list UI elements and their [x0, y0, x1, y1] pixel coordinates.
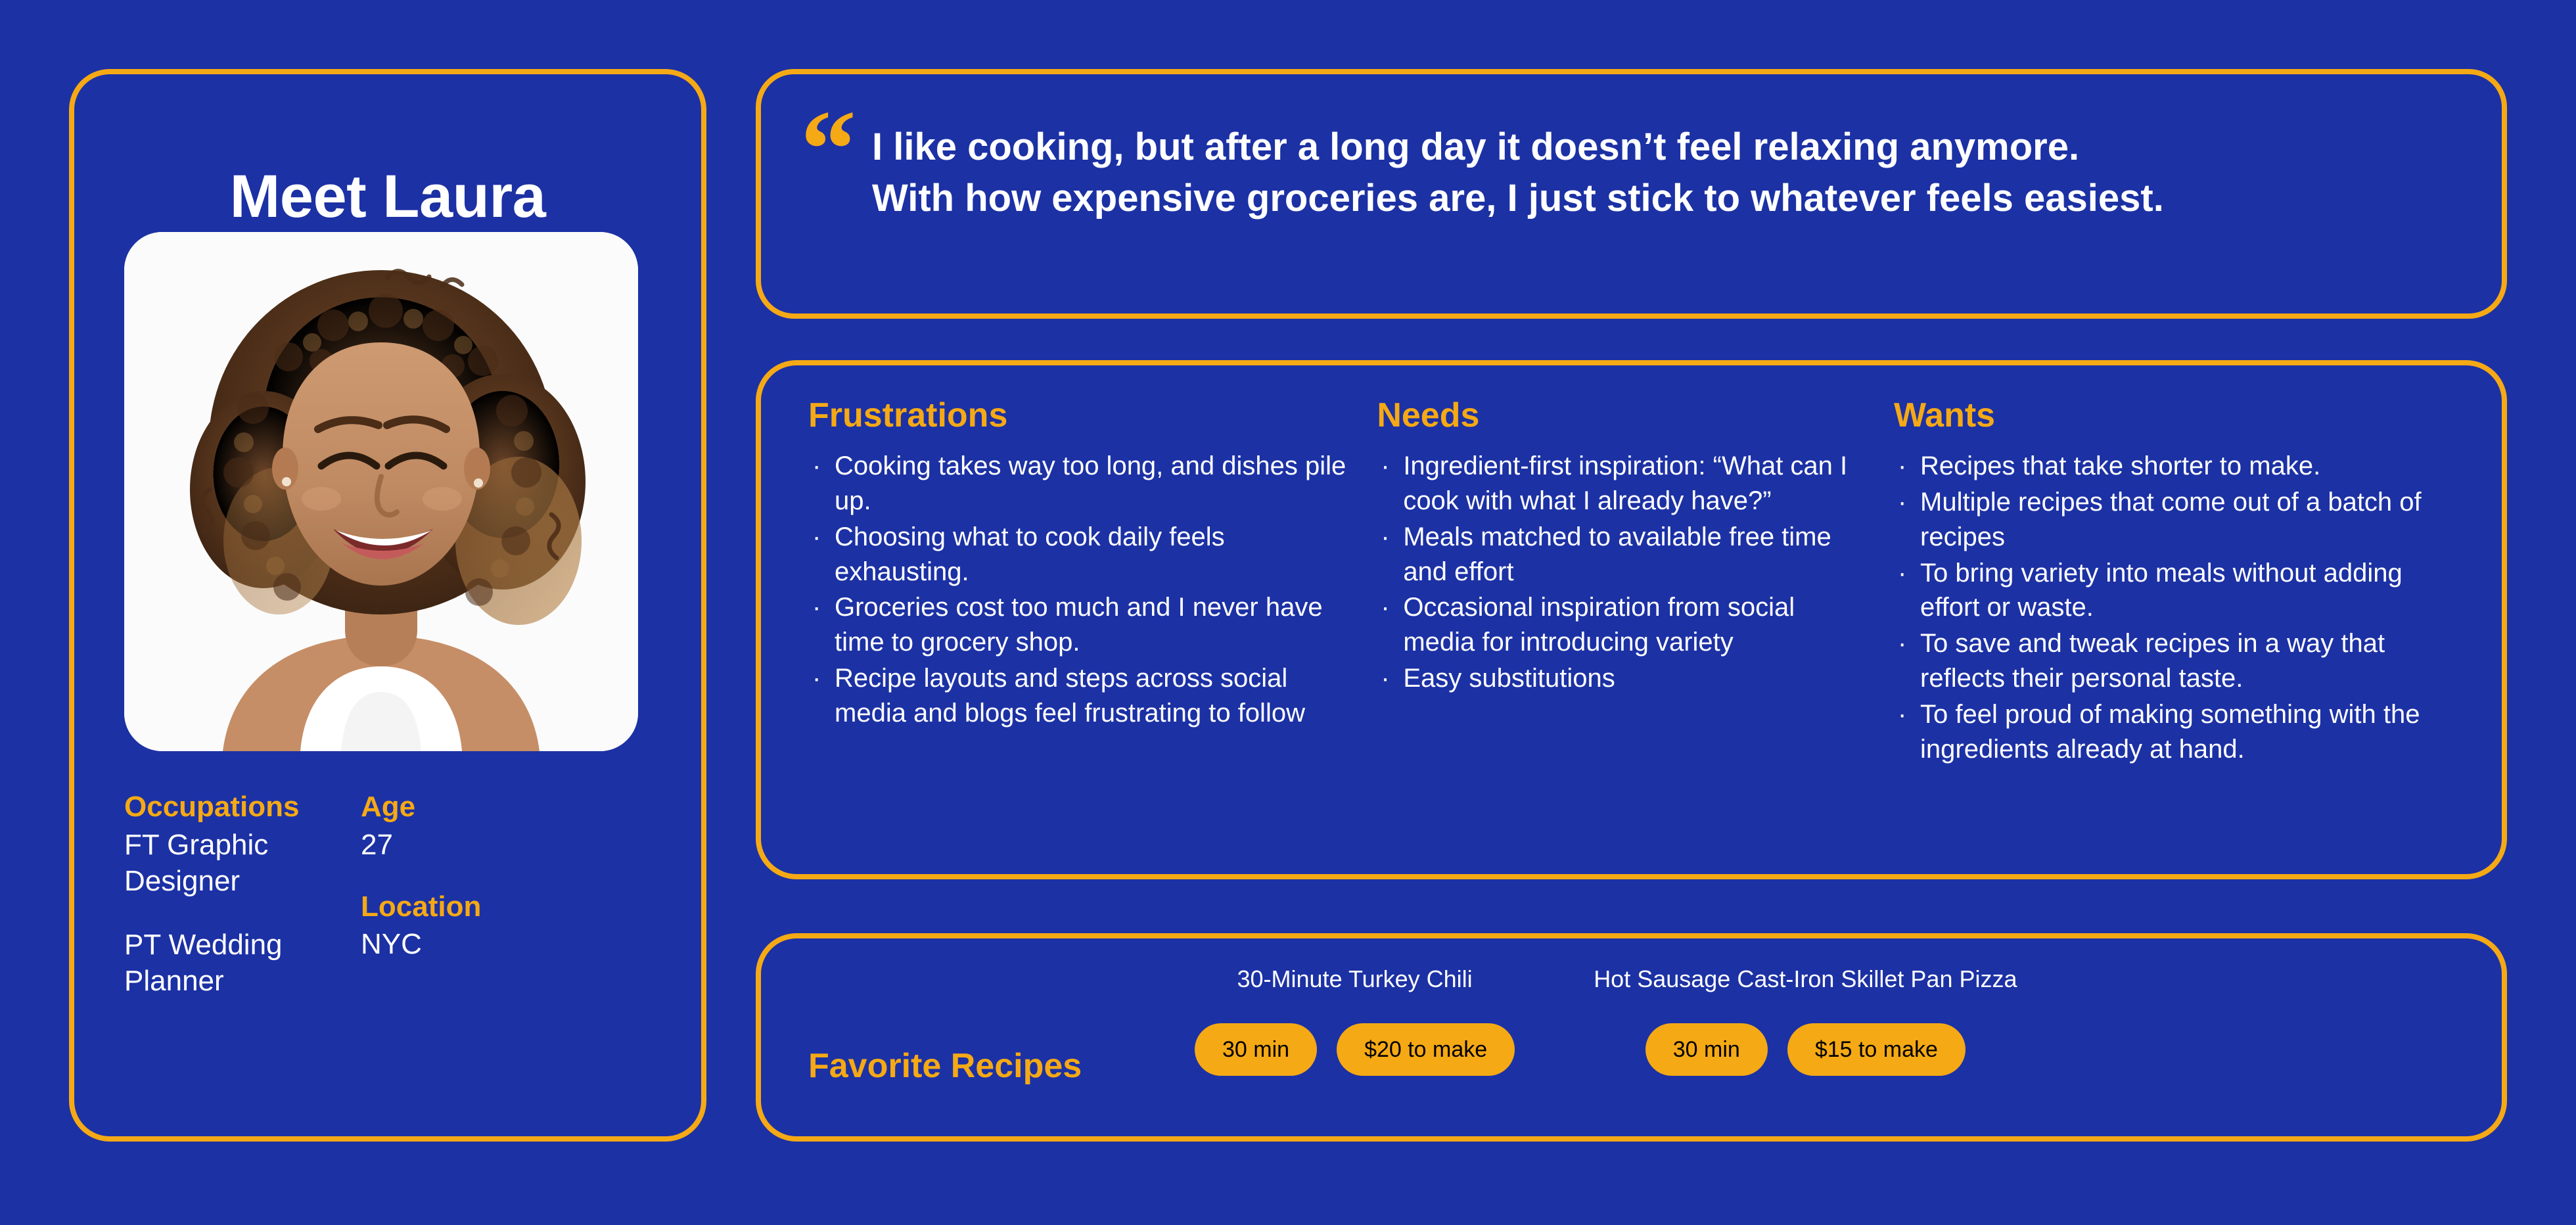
portrait-photo-icon: [124, 232, 638, 751]
quote-card: “ I like cooking, but after a long day i…: [756, 69, 2507, 319]
list-frustrations: ·Cooking takes way too long, and dishes …: [808, 449, 1354, 730]
list-item-text: Recipes that take shorter to make.: [1920, 451, 2320, 480]
occupations-label: Occupations: [124, 791, 321, 824]
profile-card: Meet Laura: [69, 69, 706, 1142]
bullet-icon: ·: [1898, 449, 1906, 484]
list-item-text: To save and tweak recipes in a way that …: [1920, 629, 2385, 693]
profile-facts: Occupations FT Graphic Designer PT Weddi…: [124, 791, 662, 999]
list-item: ·To bring variety into meals without add…: [1894, 556, 2453, 626]
bullet-icon: ·: [1381, 520, 1389, 555]
age-value: 27: [361, 827, 558, 863]
bullet-icon: ·: [1381, 590, 1389, 625]
location-label: Location: [361, 890, 558, 924]
list-needs: ·Ingredient-first inspiration: “What can…: [1377, 449, 1872, 696]
fact-col-age-location: Age 27 Location NYC: [361, 791, 558, 999]
page-title: Meet Laura: [74, 166, 701, 227]
bullet-icon: ·: [812, 661, 821, 696]
column-needs: Needs ·Ingredient-first inspiration: “Wh…: [1377, 397, 1894, 768]
bullet-icon: ·: [1898, 697, 1906, 732]
column-frustrations: Frustrations ·Cooking takes way too long…: [808, 397, 1377, 768]
list-item-text: Choosing what to cook daily feels exhaus…: [835, 522, 1225, 586]
favorite-recipes-list: 30-Minute Turkey Chili 30 min $20 to mak…: [1195, 965, 2475, 1076]
recipe-item[interactable]: 30-Minute Turkey Chili 30 min $20 to mak…: [1195, 965, 1515, 1076]
list-item-text: Multiple recipes that come out of a batc…: [1920, 488, 2422, 551]
list-item-text: Recipe layouts and steps across social m…: [835, 664, 1305, 728]
bullet-icon: ·: [1381, 661, 1389, 696]
list-item: ·Groceries cost too much and I never hav…: [808, 590, 1354, 660]
list-item: ·Ingredient-first inspiration: “What can…: [1377, 449, 1872, 519]
list-item: ·Multiple recipes that come out of a bat…: [1894, 485, 2453, 555]
quote-mark-icon: “: [800, 115, 856, 223]
recipe-time-badge[interactable]: 30 min: [1195, 1023, 1317, 1076]
occupations-group-2: PT Wedding Planner: [124, 927, 321, 999]
age-label: Age: [361, 791, 558, 824]
recipe-item[interactable]: Hot Sausage Cast-Iron Skillet Pan Pizza …: [1594, 965, 2017, 1076]
quote-text: I like cooking, but after a long day it …: [872, 115, 2164, 223]
frustrations-needs-wants-card: Frustrations ·Cooking takes way too long…: [756, 360, 2507, 879]
occupations-group: Occupations FT Graphic Designer: [124, 791, 321, 899]
list-item-text: Occasional inspiration from social media…: [1403, 593, 1795, 657]
list-item: ·Easy substitutions: [1377, 661, 1872, 696]
list-item: ·To feel proud of making something with …: [1894, 697, 2453, 767]
list-item-text: Groceries cost too much and I never have…: [835, 593, 1323, 657]
occupations-value-2: PT Wedding Planner: [124, 927, 321, 999]
column-title-wants: Wants: [1894, 397, 2453, 434]
avatar: [124, 232, 638, 751]
bullet-icon: ·: [1898, 626, 1906, 661]
column-title-needs: Needs: [1377, 397, 1872, 434]
location-group: Location NYC: [361, 890, 558, 963]
bullet-icon: ·: [1898, 485, 1906, 520]
list-item: ·Occasional inspiration from social medi…: [1377, 590, 1872, 660]
occupations-value-1: FT Graphic Designer: [124, 827, 321, 899]
bullet-icon: ·: [812, 590, 821, 625]
recipe-pills: 30 min $20 to make: [1195, 1023, 1515, 1076]
recipe-name: Hot Sausage Cast-Iron Skillet Pan Pizza: [1594, 965, 2017, 993]
list-item-text: To feel proud of making something with t…: [1920, 700, 2420, 764]
list-item: ·Choosing what to cook daily feels exhau…: [808, 520, 1354, 589]
list-item: ·Recipes that take shorter to make.: [1894, 449, 2453, 484]
recipe-pills: 30 min $15 to make: [1645, 1023, 1966, 1076]
recipe-cost-badge[interactable]: $20 to make: [1337, 1023, 1515, 1076]
fact-col-occupations: Occupations FT Graphic Designer PT Weddi…: [124, 791, 321, 999]
location-value: NYC: [361, 926, 558, 962]
list-item-text: To bring variety into meals without addi…: [1920, 559, 2403, 622]
list-wants: ·Recipes that take shorter to make. ·Mul…: [1894, 449, 2453, 766]
quote-line-1: I like cooking, but after a long day it …: [872, 122, 2164, 173]
column-title-frustrations: Frustrations: [808, 397, 1354, 434]
list-item-text: Easy substitutions: [1403, 664, 1615, 693]
bullet-icon: ·: [812, 520, 821, 555]
list-item: ·Cooking takes way too long, and dishes …: [808, 449, 1354, 519]
bullet-icon: ·: [812, 449, 821, 484]
favorite-recipes-title: Favorite Recipes: [808, 1049, 1082, 1083]
list-item: ·Recipe layouts and steps across social …: [808, 661, 1354, 731]
list-item-text: Cooking takes way too long, and dishes p…: [835, 451, 1346, 515]
list-item-text: Ingredient-first inspiration: “What can …: [1403, 451, 1847, 515]
list-item: ·To save and tweak recipes in a way that…: [1894, 626, 2453, 696]
favorite-recipes-card: Favorite Recipes 30-Minute Turkey Chili …: [756, 933, 2507, 1142]
recipe-name: 30-Minute Turkey Chili: [1237, 965, 1473, 993]
quote-line-2: With how expensive groceries are, I just…: [872, 173, 2164, 224]
bullet-icon: ·: [1381, 449, 1389, 484]
bullet-icon: ·: [1898, 556, 1906, 591]
recipe-cost-badge[interactable]: $15 to make: [1787, 1023, 1966, 1076]
age-group: Age 27: [361, 791, 558, 863]
list-item: ·Meals matched to available free time an…: [1377, 520, 1872, 589]
recipe-time-badge[interactable]: 30 min: [1645, 1023, 1768, 1076]
column-wants: Wants ·Recipes that take shorter to make…: [1894, 397, 2475, 768]
persona-board: Meet Laura: [0, 0, 2576, 1225]
list-item-text: Meals matched to available free time and…: [1403, 522, 1831, 586]
